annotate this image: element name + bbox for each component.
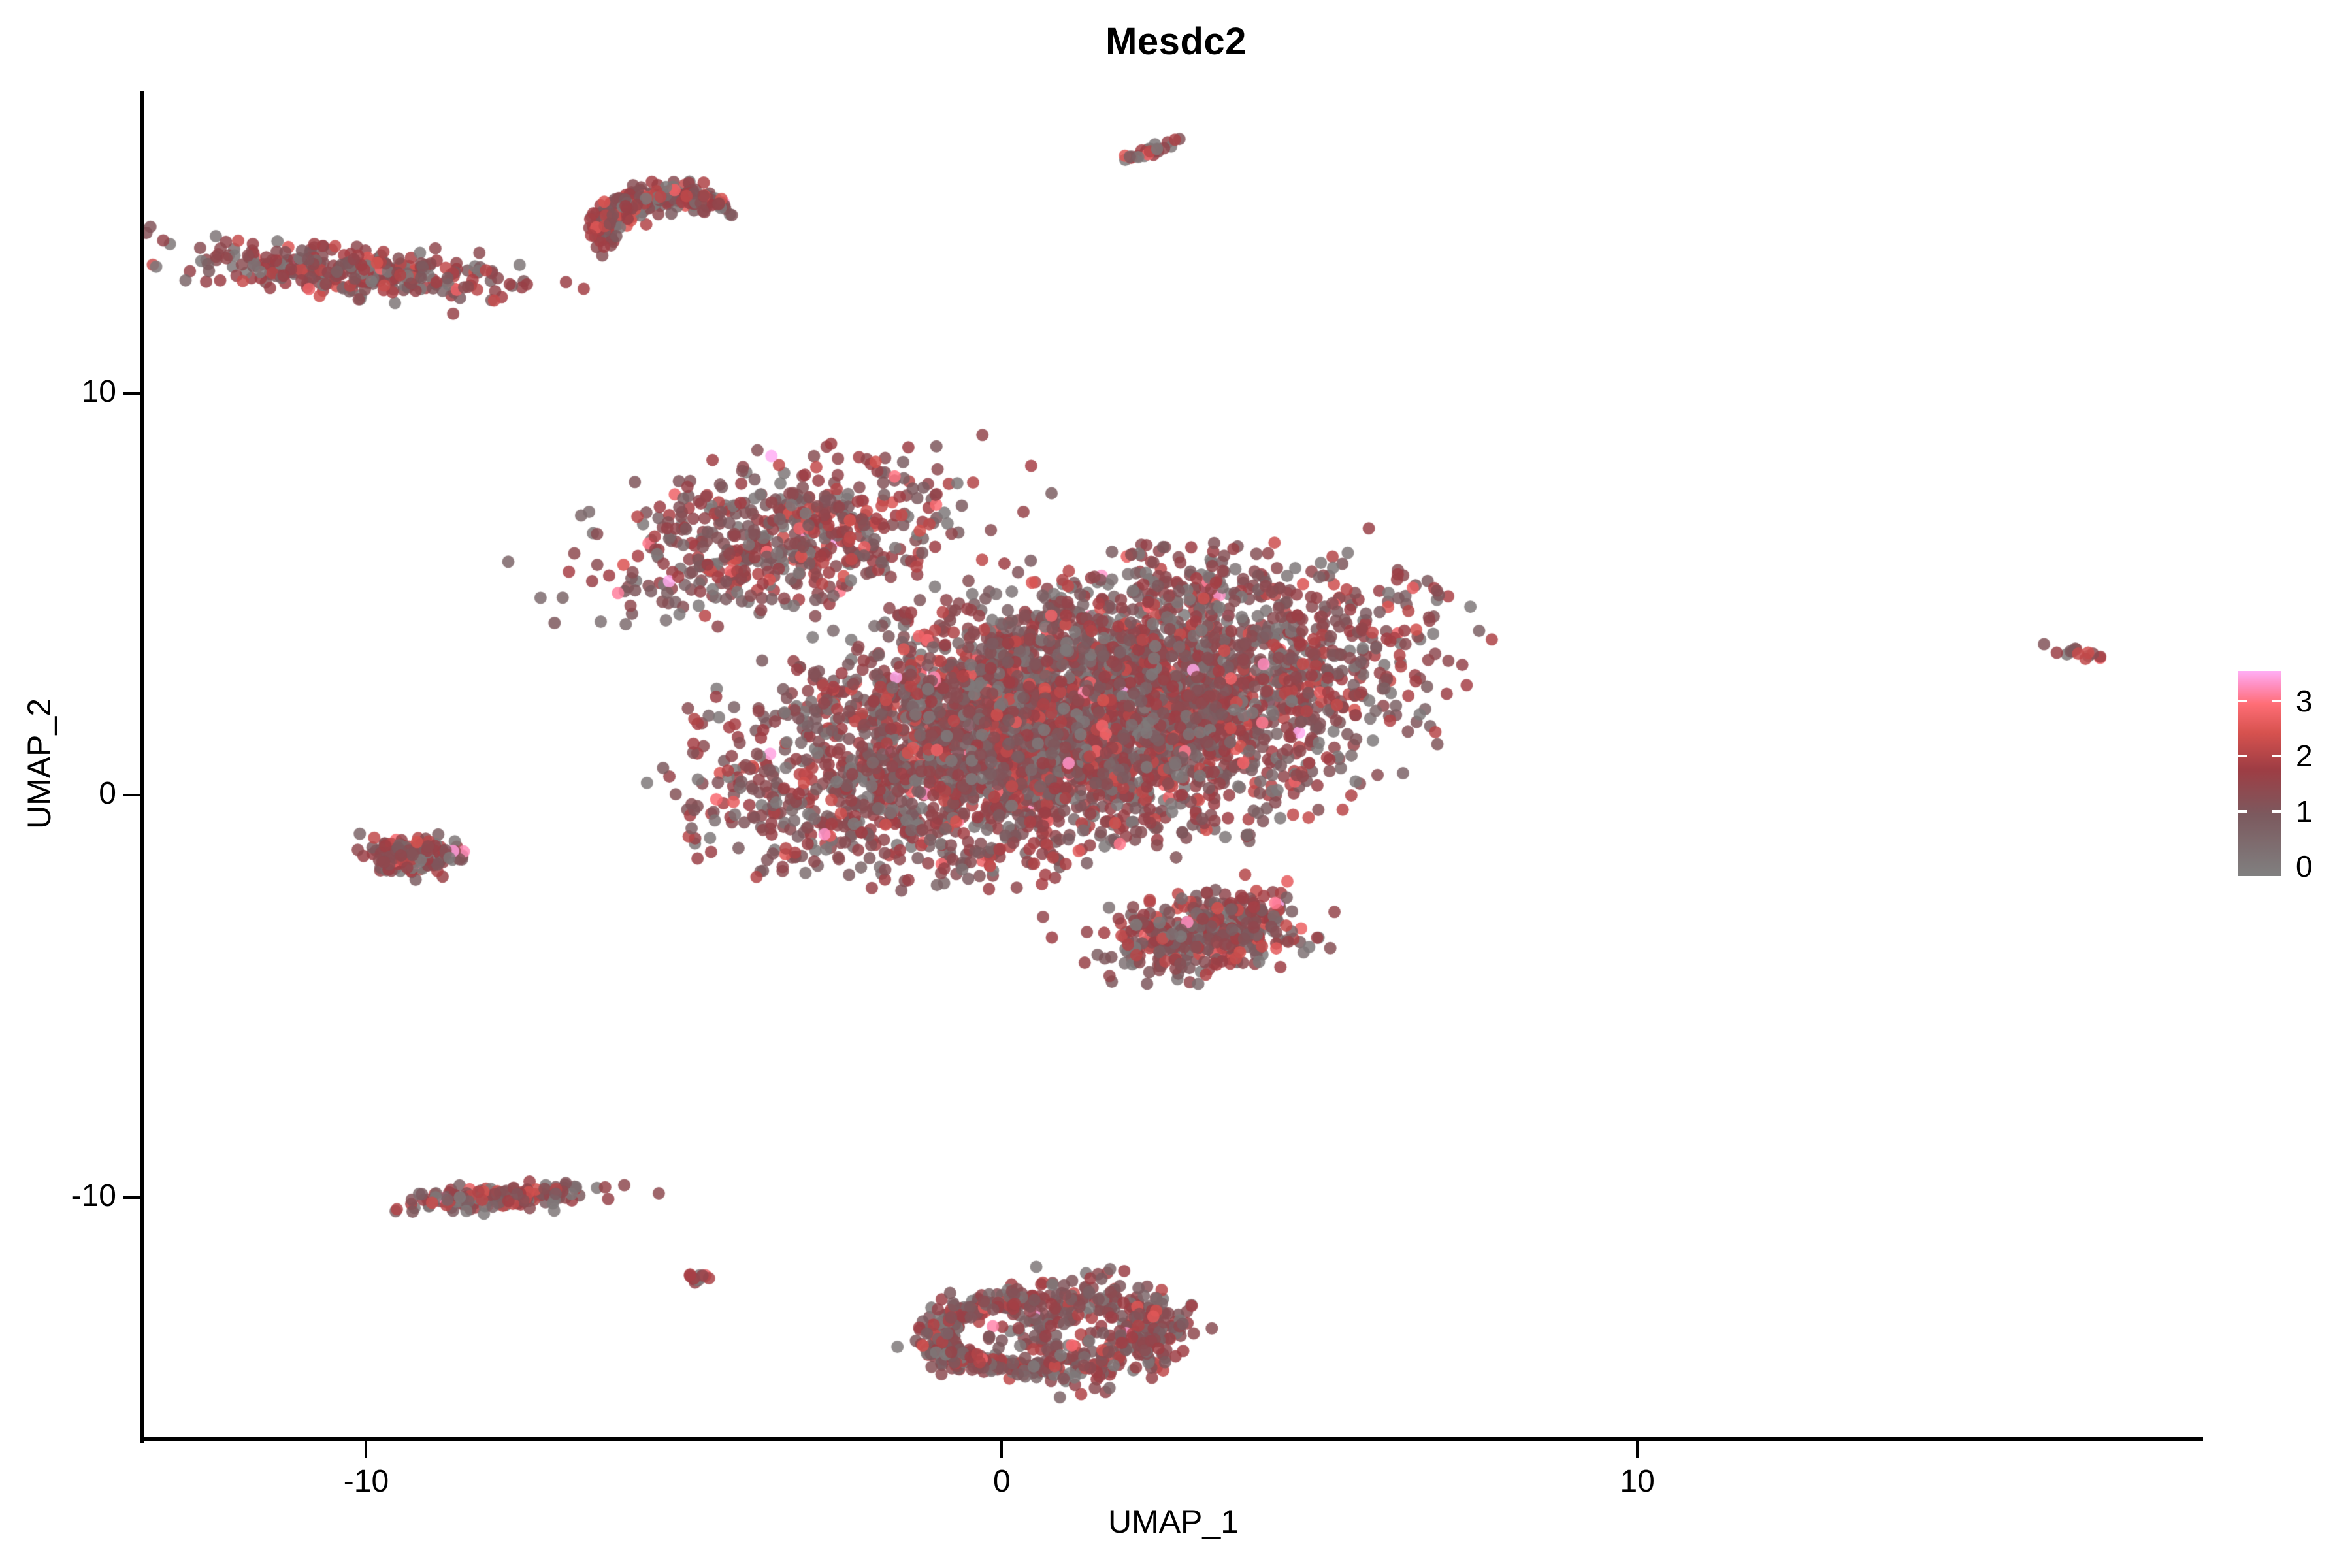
umap-feature-plot: Mesdc2 -10010 -10010 UMAP_1 UMAP_2 0123 [0, 0, 2352, 1568]
y-axis-line [140, 91, 144, 1443]
x-tick-mark [1000, 1441, 1003, 1458]
scatter-points-canvas [144, 91, 2203, 1439]
x-axis-line [140, 1437, 2203, 1441]
colorbar-legend [2238, 671, 2281, 876]
y-tick-mark [123, 794, 140, 796]
x-tick-mark [365, 1441, 367, 1458]
plot-panel [144, 91, 2203, 1439]
y-axis-title: UMAP_2 [20, 372, 58, 1156]
y-tick-label: -10 [0, 1178, 116, 1214]
colorbar-tick-mark [2238, 700, 2247, 702]
colorbar-tick-label: 0 [2296, 849, 2313, 884]
colorbar-tick-label: 1 [2296, 794, 2313, 829]
y-tick-label: 0 [0, 776, 116, 811]
x-tick-label: 0 [936, 1463, 1067, 1499]
x-axis-title: UMAP_1 [144, 1503, 2203, 1541]
y-tick-mark [123, 1196, 140, 1199]
colorbar-tick-mark [2238, 810, 2247, 813]
y-tick-mark [123, 392, 140, 395]
colorbar-tick-mark [2272, 700, 2281, 702]
colorbar-tick-mark [2272, 755, 2281, 757]
x-tick-label: -10 [301, 1463, 431, 1499]
colorbar-tick-mark [2272, 810, 2281, 813]
y-tick-label: 10 [0, 374, 116, 410]
colorbar-tick-label: 3 [2296, 683, 2313, 719]
x-tick-mark [1636, 1441, 1639, 1458]
colorbar-gradient [2238, 671, 2281, 876]
colorbar-tick-label: 2 [2296, 738, 2313, 774]
x-tick-label: 10 [1572, 1463, 1703, 1499]
page-title: Mesdc2 [0, 20, 2352, 63]
colorbar-tick-mark [2238, 755, 2247, 757]
